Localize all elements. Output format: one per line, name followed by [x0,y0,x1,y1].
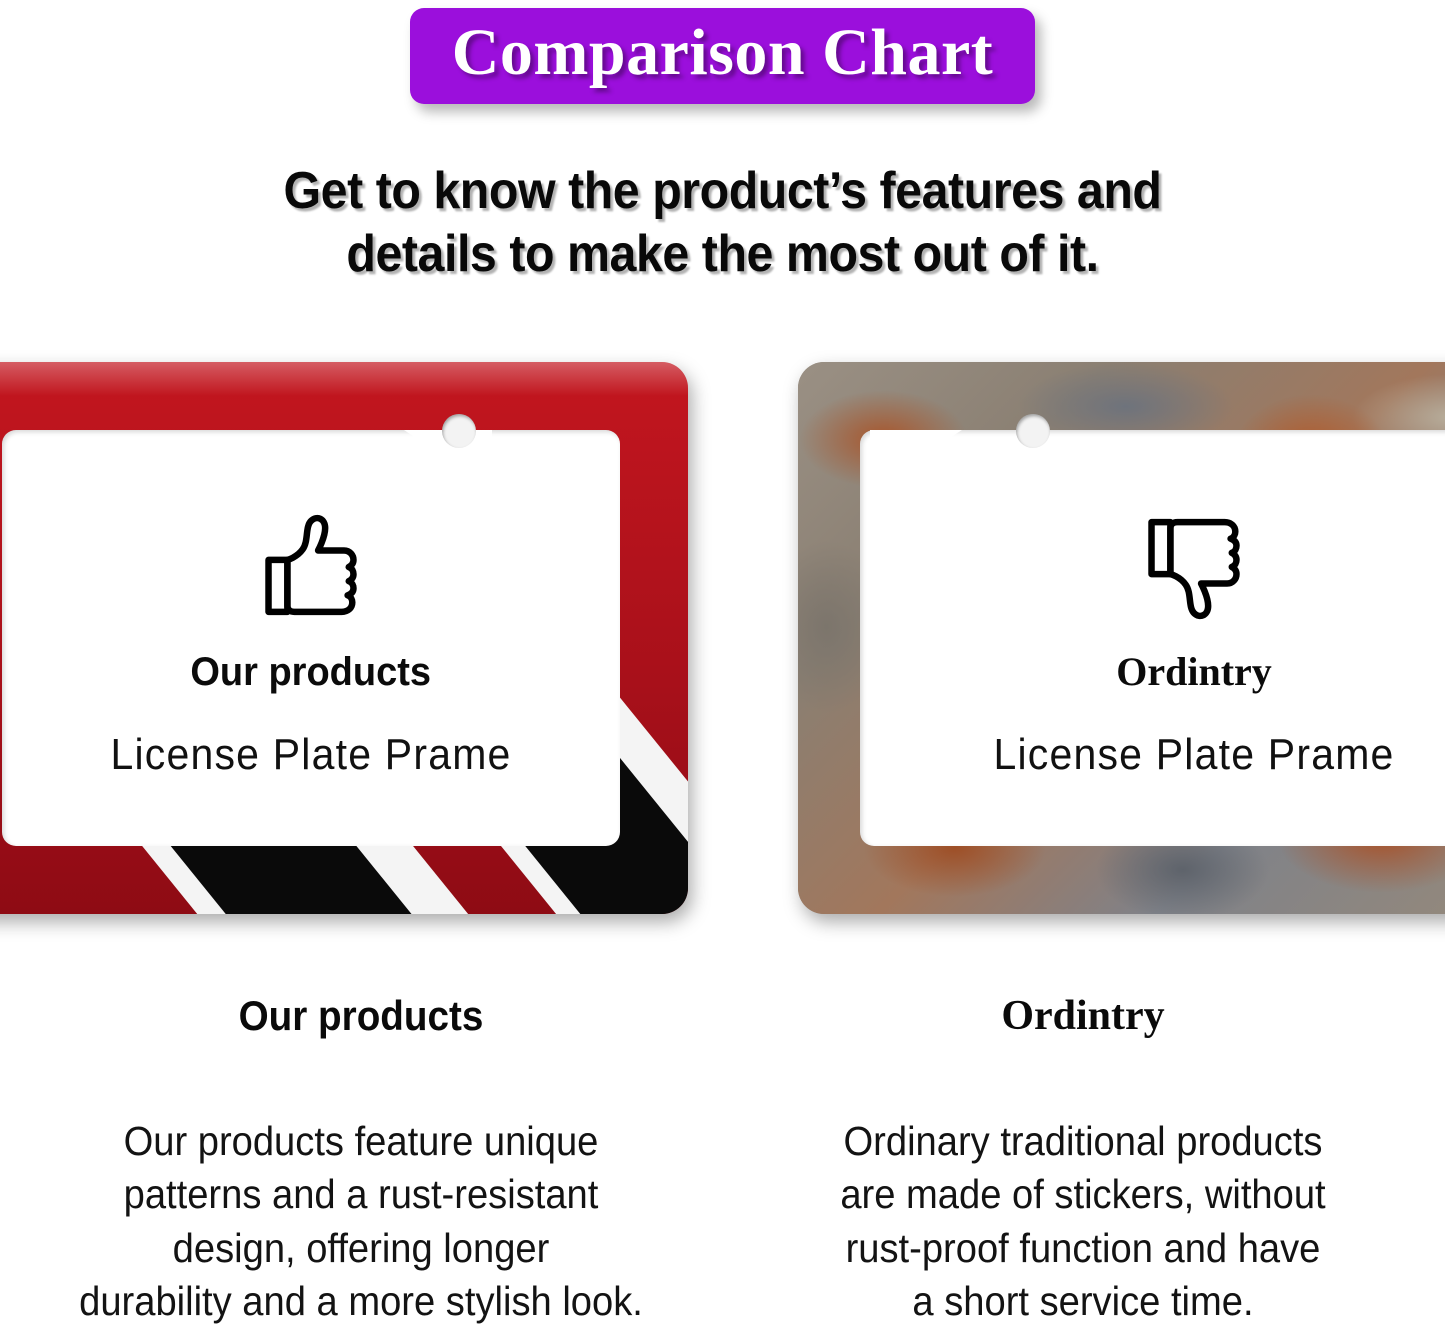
body-line: rust-proof function and have [779,1222,1387,1275]
card-label-ours: Our products [191,652,432,692]
product-frames-row: Our products License Plate Prame Ordintr… [0,362,1445,918]
body-line: patterns and a rust-resistant [57,1168,665,1221]
column-body-ordinary: Ordinary traditional products are made o… [779,1115,1387,1328]
subtitle-line-2: details to make the most out of it. [144,223,1302,286]
body-line: durability and a more stylish look. [57,1275,665,1328]
thumbs-up-icon [251,508,371,626]
plate-card-content-ours: Our products License Plate Prame [2,430,620,846]
page-title: Comparison Chart [452,16,994,90]
description-column-ours: Our products Our products feature unique… [0,995,722,1314]
card-subtitle-ordinary: License Plate Prame [993,732,1394,775]
mount-hole-icon [1016,414,1050,448]
subtitle: Get to know the product’s features and d… [51,160,1395,287]
mount-hole-icon [442,414,476,448]
product-frame-ours: Our products License Plate Prame [0,362,688,914]
body-line: Ordinary traditional products [779,1115,1387,1168]
frame-gloss [0,362,688,396]
thumbs-down-icon [1134,508,1254,626]
body-line: Our products feature unique [57,1115,665,1168]
description-column-ordinary: Ordintry Ordinary traditional products a… [722,995,1444,1314]
title-banner: Comparison Chart [410,8,1036,104]
mount-notch-chamfer [870,430,962,488]
title-banner-wrapper: Comparison Chart [0,8,1445,104]
body-line: a short service time. [779,1275,1387,1328]
plate-window-ordinary: Ordintry License Plate Prame [860,430,1445,846]
product-frame-ordinary: Ordintry License Plate Prame [798,362,1445,914]
body-line: are made of stickers, without [779,1168,1387,1221]
column-heading-ours: Our products [60,995,662,1037]
body-line: design, offering longer [57,1222,665,1275]
column-body-ours: Our products feature unique patterns and… [57,1115,665,1328]
comparison-descriptions: Our products Our products feature unique… [0,995,1445,1314]
subtitle-line-1: Get to know the product’s features and [144,160,1302,223]
plate-card-content-ordinary: Ordintry License Plate Prame [860,430,1445,846]
column-heading-ordinary: Ordintry [756,995,1410,1037]
card-label-ordinary: Ordintry [1116,652,1272,692]
plate-window-ours: Our products License Plate Prame [2,430,620,846]
card-subtitle-ours: License Plate Prame [110,732,511,775]
